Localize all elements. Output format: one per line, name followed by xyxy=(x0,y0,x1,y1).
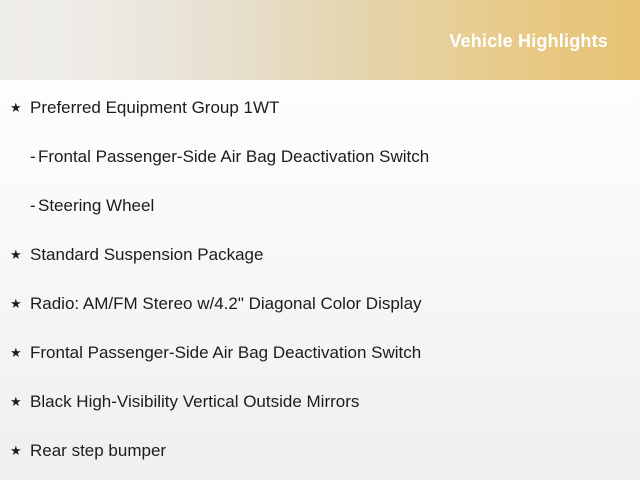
highlight-label: Standard Suspension Package xyxy=(30,245,640,265)
highlight-item: ★Rear step bumper xyxy=(0,441,640,490)
highlight-label: Radio: AM/FM Stereo w/4.2" Diagonal Colo… xyxy=(30,294,640,314)
highlights-list: ★Preferred Equipment Group 1WT-Frontal P… xyxy=(0,80,640,490)
star-bullet-icon: ★ xyxy=(10,245,30,265)
highlight-label: Preferred Equipment Group 1WT xyxy=(30,98,640,118)
panel-header: Vehicle Highlights xyxy=(0,0,640,80)
star-bullet-icon: ★ xyxy=(10,294,30,314)
highlight-item: ★Frontal Passenger-Side Air Bag Deactiva… xyxy=(0,343,640,392)
vehicle-highlights-panel: Vehicle Highlights ★Preferred Equipment … xyxy=(0,0,640,480)
highlight-sub-item: -Steering Wheel xyxy=(0,196,640,245)
page-title: Vehicle Highlights xyxy=(449,32,640,50)
highlight-label: Steering Wheel xyxy=(38,196,640,216)
sub-item-dash: - xyxy=(30,147,38,167)
highlight-label: Rear step bumper xyxy=(30,441,640,461)
star-bullet-icon: ★ xyxy=(10,343,30,363)
highlight-item: ★Radio: AM/FM Stereo w/4.2" Diagonal Col… xyxy=(0,294,640,343)
highlight-label: Frontal Passenger-Side Air Bag Deactivat… xyxy=(30,343,640,363)
star-bullet-icon: ★ xyxy=(10,441,30,461)
highlight-label: Frontal Passenger-Side Air Bag Deactivat… xyxy=(38,147,640,167)
star-bullet-icon: ★ xyxy=(10,392,30,412)
highlight-item: ★Black High-Visibility Vertical Outside … xyxy=(0,392,640,441)
highlight-label: Black High-Visibility Vertical Outside M… xyxy=(30,392,640,412)
highlight-item: ★Preferred Equipment Group 1WT xyxy=(0,80,640,147)
star-bullet-icon: ★ xyxy=(10,98,30,118)
highlight-item: ★Standard Suspension Package xyxy=(0,245,640,294)
sub-item-dash: - xyxy=(30,196,38,216)
highlight-sub-item: -Frontal Passenger-Side Air Bag Deactiva… xyxy=(0,147,640,196)
